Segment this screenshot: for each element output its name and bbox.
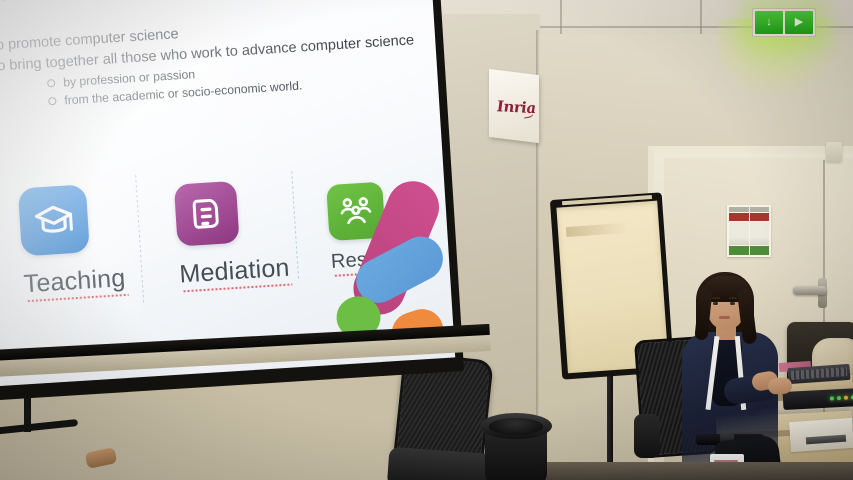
pillar-divider: [291, 171, 299, 281]
safety-instructions-poster: [727, 205, 771, 257]
hollow-circle-bullet-icon: [48, 97, 56, 105]
light-switch[interactable]: [826, 142, 842, 162]
slide-bullets: To promote computer science To bring tog…: [0, 9, 422, 114]
paper-crease: [566, 221, 654, 237]
emergency-exit-sign: ↓ ▶: [752, 8, 816, 37]
mediation-tile: [174, 181, 240, 247]
floor: [538, 462, 853, 480]
pillar-divider: [135, 175, 144, 303]
graduation-cap-icon: [32, 200, 76, 241]
led-indicator: [837, 396, 841, 400]
led-indicator: [844, 396, 848, 400]
slide-title-left-fragment: ose: [0, 0, 33, 5]
exit-pictogram-left: ↓: [755, 11, 783, 34]
inria-logo: Inria: [496, 97, 533, 121]
hollow-circle-bullet-icon: [47, 79, 55, 87]
chair-armrest: [634, 414, 660, 458]
eyebrow: [712, 297, 720, 299]
room-photo-scene: ↓ ▶ Inria: [0, 0, 853, 480]
exit-arrow-icon: ▶: [795, 17, 803, 28]
eye: [713, 302, 718, 305]
led-indicator: [830, 396, 834, 400]
pillar-mediation: Mediation: [174, 178, 291, 290]
mouth: [719, 316, 730, 319]
projected-slide: ose ty for computer science in To promot…: [0, 0, 455, 386]
seated-speaker: [672, 268, 792, 480]
shoe: [85, 447, 118, 469]
waste-bin[interactable]: [480, 413, 552, 480]
chair-base: [0, 419, 78, 436]
eye: [730, 302, 735, 305]
wall-plaque: Inria: [489, 69, 539, 143]
pillar-label: Mediation: [179, 254, 291, 290]
slide-title: ose ty for computer science in: [0, 0, 417, 6]
hand: [767, 377, 792, 395]
teaching-tile: [18, 184, 90, 256]
document-lines-icon: [188, 194, 226, 234]
exit-pictogram-right: ▶: [785, 11, 813, 34]
pillar-label: Teaching: [23, 264, 126, 299]
projection-screen: ose ty for computer science in To promot…: [0, 0, 464, 400]
eyebrow: [729, 297, 737, 299]
door-handle-icon[interactable]: [793, 286, 827, 295]
slide-content: ose ty for computer science in To promot…: [0, 0, 455, 386]
exit-arrow-icon: ↓: [766, 17, 772, 28]
bin-opening: [489, 418, 543, 435]
network-device[interactable]: [783, 388, 853, 410]
pillar-teaching: Teaching: [18, 182, 126, 299]
